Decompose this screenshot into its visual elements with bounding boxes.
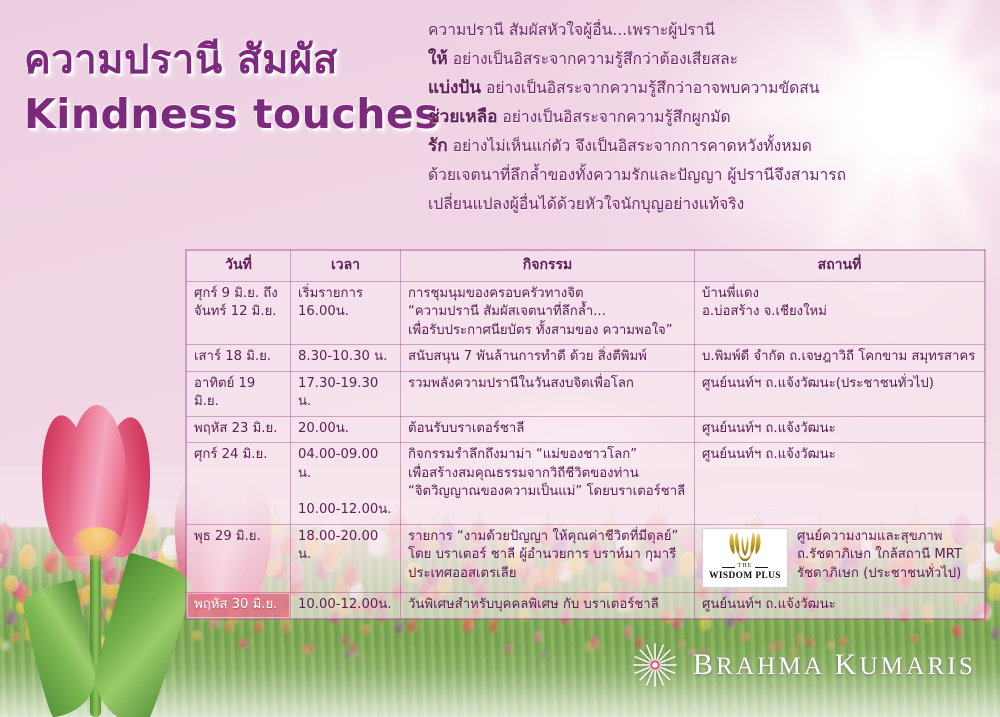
cell-place-line: บ้านพี่แดง [702,285,977,304]
cell-date: อาทิตย์ 19 มิ.ย. [187,371,291,416]
intro-line-lead: ช่วยเหลือ [428,107,497,127]
cell-date: พฤหัส 23 มิ.ย. [187,416,291,443]
lotus-emblem-icon [723,532,767,562]
intro-line-text: เปลี่ยนแปลงผู้อื่นได้ด้วยหัวใจนักบุญอย่า… [428,195,744,213]
cell-activity: วันพิเศษสำหรับบุคคลพิเศษ กับ บราเตอร์ชาล… [401,592,695,619]
table-row: พฤหัส 23 มิ.ย.20.00น.ต้อนรับบราเตอร์ชาลี… [187,416,985,443]
intro-line: ช่วยเหลือ อย่างเป็นอิสระจากความรู้สึกผูก… [428,103,988,132]
table-row: ศุกร์ 24 มิ.ย.04.00-09.00 น.10.00-12.00น… [187,443,985,525]
cell-activity-line: วันพิเศษสำหรับบุคคลพิเศษ กับ บราเตอร์ชาล… [408,596,687,615]
wisdom-plus-logo: THEWISDOM PLUS [702,528,788,588]
intro-line-text: อย่างเป็นอิสระจากความรู้สึกผูกมัด [497,108,730,126]
tulip-foreground [28,417,178,717]
intro-line: ให้ อย่างเป็นอิสระจากความรู้สึกว่าต้องเส… [428,45,988,74]
intro-line: เปลี่ยนแปลงผู้อื่นได้ด้วยหัวใจนักบุญอย่า… [428,190,988,219]
cell-activity: กิจกรรมรำลึกถึงมาม่า “แม่ของชาวโลก”เพื่อ… [401,443,695,525]
cell-activity-line: โดย บราเตอร์ ชาลี ผู้อำนวยการ บราห์มา กุ… [408,546,687,565]
cell-activity: รวมพลังความปรานีในวันสงบจิตเพื่อโลก [401,371,695,416]
cell-time: 18.00-20.00 น. [291,524,401,592]
cell-activity-line: ประเทศออสเตรเลีย [408,565,687,584]
cell-place: บ.พิมพ์ดี จำกัด ถ.เจษฎาวิถี โคกขาม สมุทร… [695,345,985,372]
cell-place-line: รัชดาภิเษก (ประชาชนทั่วไป) [797,565,977,584]
intro-line-lead: รัก [428,136,448,156]
wisdom-plus-name-text: WISDOM PLUS [709,571,781,582]
intro-line-text: ด้วยเจตนาที่ลึกล้ำของทั้งความรักและปัญญา… [428,166,846,184]
column-header-time: เวลา [291,251,401,282]
table-row: อาทิตย์ 19 มิ.ย.17.30-19.30 น.รวมพลังควา… [187,371,985,416]
column-header-date: วันที่ [187,251,291,282]
cell-time: 10.00-12.00น. [291,592,401,619]
cell-activity-line: การชุมนุมของครอบครัวทางจิต [408,285,687,304]
cell-place-line: ถ.รัชดาภิเษก ใกล้สถานี MRT [797,546,977,565]
brahma-kumaris-logo: BRAHMA KUMARIS [631,641,976,689]
column-header-activity: กิจกรรม [401,251,695,282]
cell-place: ศูนย์นนท์ฯ ถ.แจ้งวัฒนะ(ประชาชนทั่วไป) [695,371,985,416]
cell-time-line: 04.00-09.00 น. [298,446,393,483]
intro-line: รัก อย่างไม่เห็นแก่ตัว จึงเป็นอิสระจากกา… [428,132,988,161]
cell-time: 20.00น. [291,416,401,443]
intro-line-lead: แบ่งปัน [428,78,481,98]
intro-line: ความปรานี สัมผัสหัวใจผู้อื่น...เพราะผู้ป… [428,16,988,45]
cell-place: THEWISDOM PLUSศูนย์ความงามและสุขภาพถ.รัช… [695,524,985,592]
cell-time: 17.30-19.30 น. [291,371,401,416]
headline-block: ความปรานี สัมผัส Kindness touches [24,36,424,139]
cell-place-line: ศูนย์นนท์ฯ ถ.แจ้งวัฒนะ [702,446,977,465]
cell-date: เสาร์ 18 มิ.ย. [187,345,291,372]
cell-time: เริ่มรายการ 16.00น. [291,281,401,345]
wisdom-plus-the-text: THE [738,563,753,570]
cell-activity-line: “ความปรานี สัมผัสเจตนาที่ลึกล้ำ... [408,303,687,322]
cell-place-line: ศูนย์นนท์ฯ ถ.แจ้งวัฒนะ [702,596,977,615]
intro-line-text: อย่างเป็นอิสระจากความรู้สึกว่าอาจพบความข… [481,79,819,97]
cell-place-line: ศูนย์ความงามและสุขภาพ [797,528,977,547]
intro-line-text: อย่างเป็นอิสระจากความรู้สึกว่าต้องเสียสล… [448,50,738,68]
cell-activity: สนับสนุน 7 พันล้านการทำดี ด้วย สิ่งตีพิม… [401,345,695,372]
cell-activity: รายการ “งามด้วยปัญญา ให้คุณค่าชีวิตที่มี… [401,524,695,592]
cell-place: ศูนย์นนท์ฯ ถ.แจ้งวัฒนะ [695,443,985,525]
intro-line: แบ่งปัน อย่างเป็นอิสระจากความรู้สึกว่าอา… [428,74,988,103]
cell-place: ศูนย์นนท์ฯ ถ.แจ้งวัฒนะ [695,592,985,619]
cell-place: ศูนย์นนท์ฯ ถ.แจ้งวัฒนะ [695,416,985,443]
intro-line-text: อย่างไม่เห็นแก่ตัว จึงเป็นอิสระจากการคาด… [448,137,812,155]
intro-paragraph: ความปรานี สัมผัสหัวใจผู้อื่น...เพราะผู้ป… [428,16,988,219]
table-row: พุธ 29 มิ.ย.18.00-20.00 น.รายการ “งามด้ว… [187,524,985,592]
place-with-logo: THEWISDOM PLUSศูนย์ความงามและสุขภาพถ.รัช… [702,528,977,588]
cell-place-line: อ.บ่อสร้าง จ.เชียงใหม่ [702,303,977,322]
cell-activity-line: เพื่อรับประกาศนียบัตร ทั้งสามของ ความพอใ… [408,322,687,341]
headline-thai: ความปรานี สัมผัส [24,36,424,85]
cell-activity-line: เพื่อสร้างสมคุณธรรมจากวิถีชีวิตของท่าน [408,465,687,484]
cell-date: ศุกร์ 9 มิ.ย. ถึง จันทร์ 12 มิ.ย. [187,281,291,345]
cell-activity-line: “จิตวิญญาณของความเป็นแม่” โดยบราเตอร์ชาล… [408,483,687,502]
headline-english: Kindness touches [24,89,424,139]
cell-time-line: 10.00-12.00น. [298,501,393,520]
table-header-row: วันที่ เวลา กิจกรรม สถานที่ [187,251,985,282]
cell-date: พฤหัส 30 มิ.ย. [187,592,291,619]
cell-date: ศุกร์ 24 มิ.ย. [187,443,291,525]
cell-activity: การชุมนุมของครอบครัวทางจิต“ความปรานี สัม… [401,281,695,345]
cell-place-line: ศูนย์นนท์ฯ ถ.แจ้งวัฒนะ [702,420,977,439]
table-row: ศุกร์ 9 มิ.ย. ถึง จันทร์ 12 มิ.ย.เริ่มรา… [187,281,985,345]
column-header-place: สถานที่ [695,251,985,282]
brahma-kumaris-wordmark: BRAHMA KUMARIS [693,648,976,682]
table-row: เสาร์ 18 มิ.ย.8.30-10.30 น.สนับสนุน 7 พั… [187,345,985,372]
cell-time: 04.00-09.00 น.10.00-12.00น. [291,443,401,525]
cell-time: 8.30-10.30 น. [291,345,401,372]
poster-canvas: ความปรานี สัมผัส Kindness touches ความปร… [0,0,1000,717]
table-row: พฤหัส 30 มิ.ย.10.00-12.00น.วันพิเศษสำหรั… [187,592,985,619]
intro-line: ด้วยเจตนาที่ลึกล้ำของทั้งความรักและปัญญา… [428,161,988,190]
cell-activity: ต้อนรับบราเตอร์ชาลี [401,416,695,443]
cell-activity-line: ต้อนรับบราเตอร์ชาลี [408,420,687,439]
schedule-table: วันที่ เวลา กิจกรรม สถานที่ ศุกร์ 9 มิ.ย… [186,250,985,619]
cell-activity-line: รวมพลังความปรานีในวันสงบจิตเพื่อโลก [408,375,687,394]
cell-place-line: บ.พิมพ์ดี จำกัด ถ.เจษฎาวิถี โคกขาม สมุทร… [702,348,977,367]
cell-date: พุธ 29 มิ.ย. [187,524,291,592]
cell-place-line: ศูนย์นนท์ฯ ถ.แจ้งวัฒนะ(ประชาชนทั่วไป) [702,375,977,394]
cell-activity-line: กิจกรรมรำลึกถึงมาม่า “แม่ของชาวโลก” [408,446,687,465]
cell-place: บ้านพี่แดงอ.บ่อสร้าง จ.เชียงใหม่ [695,281,985,345]
place-lines: ศูนย์ความงามและสุขภาพถ.รัชดาภิเษก ใกล้สถ… [797,528,977,584]
intro-line-lead: ให้ [428,49,448,69]
starburst-emblem-icon [631,641,679,689]
cell-activity-line: สนับสนุน 7 พันล้านการทำดี ด้วย สิ่งตีพิม… [408,348,687,367]
cell-activity-line: รายการ “งามด้วยปัญญา ให้คุณค่าชีวิตที่มี… [408,528,687,547]
intro-line-text: ความปรานี สัมผัสหัวใจผู้อื่น...เพราะผู้ป… [428,21,715,39]
